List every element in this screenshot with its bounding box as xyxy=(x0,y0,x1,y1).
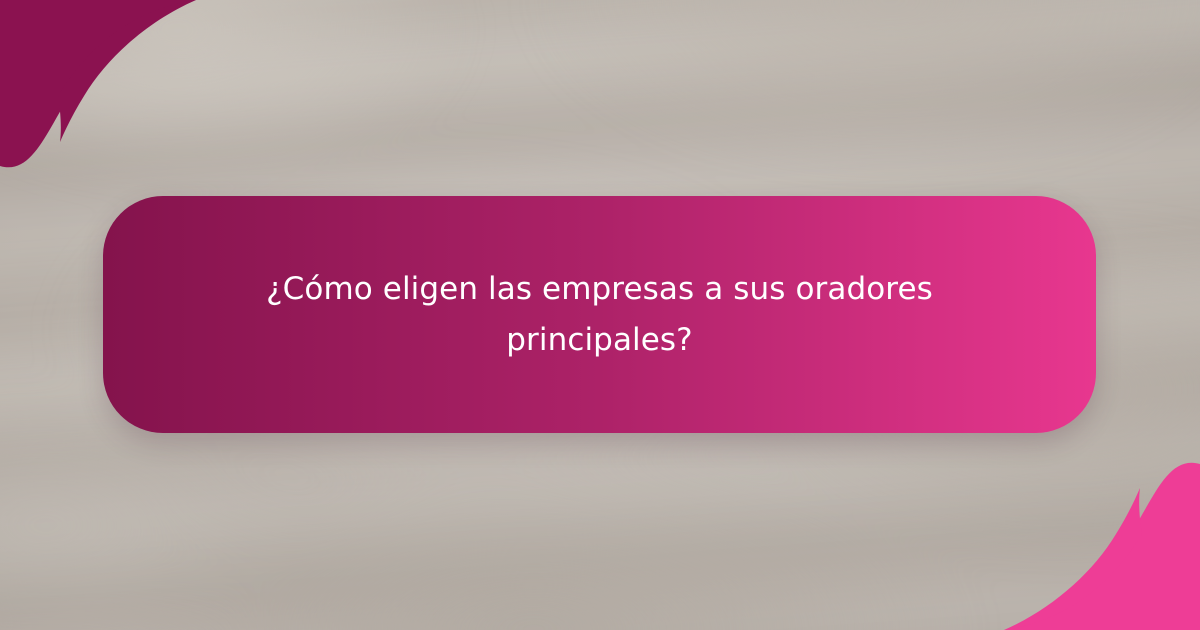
quote-question-text: ¿Cómo eligen las empresas a sus oradores… xyxy=(220,264,980,364)
social-card-canvas: ¿Cómo eligen las empresas a sus oradores… xyxy=(0,0,1200,630)
quote-card: ¿Cómo eligen las empresas a sus oradores… xyxy=(103,196,1096,433)
